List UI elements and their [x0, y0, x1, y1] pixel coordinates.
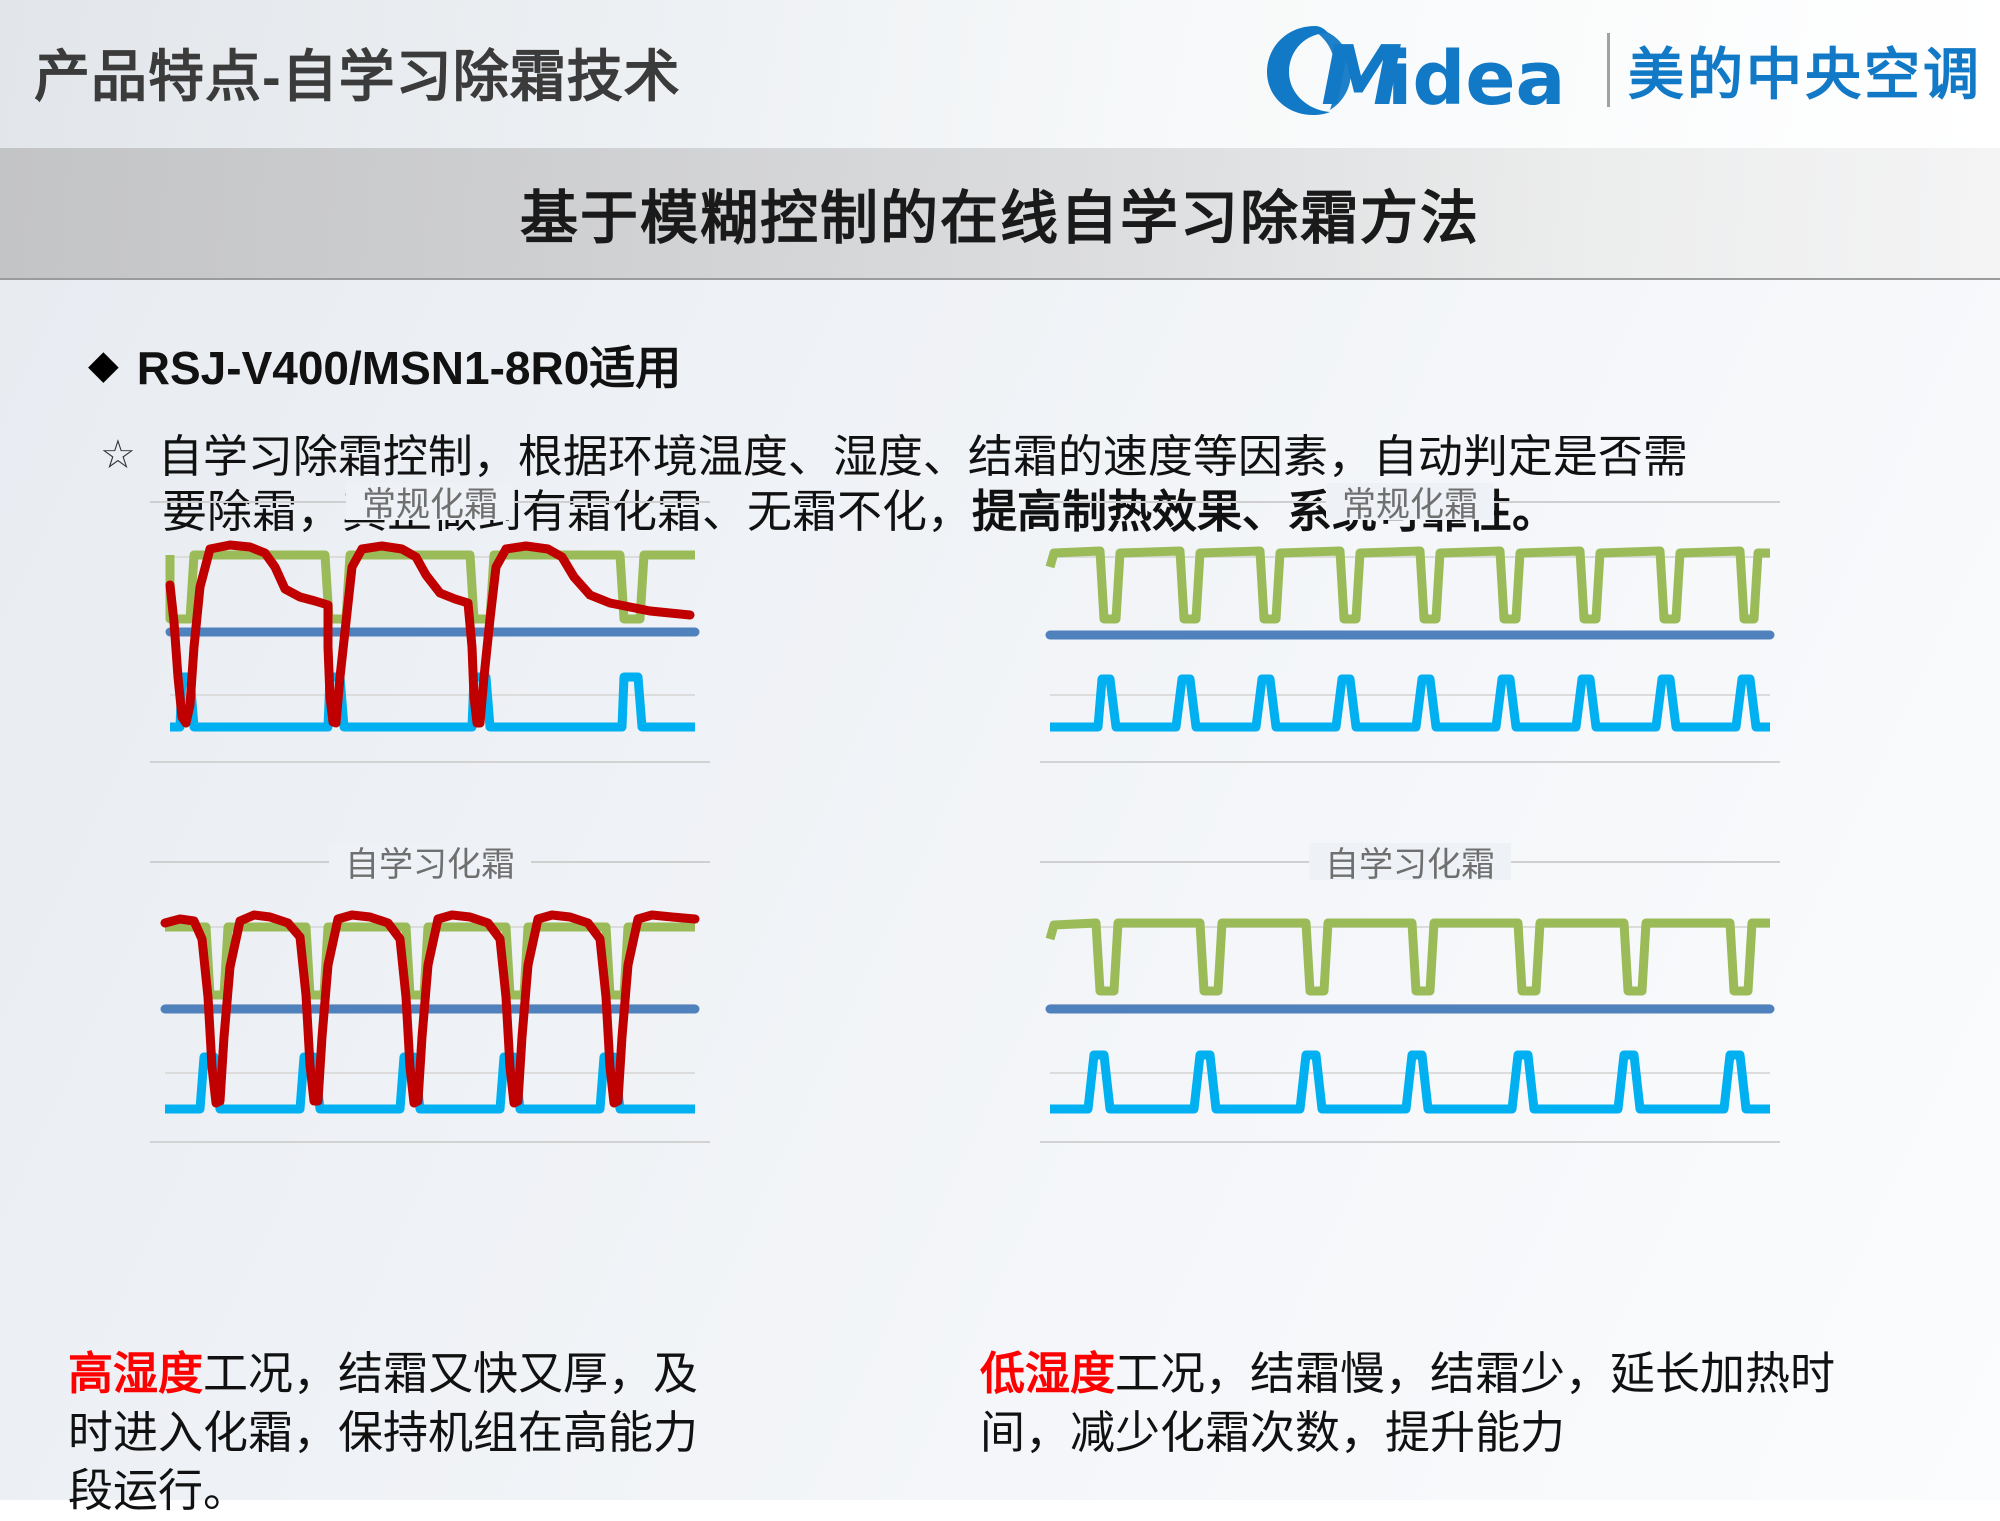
chart-bottom-right-plot: [1040, 887, 1780, 1137]
diamond-bullet-icon: ◆: [88, 345, 119, 385]
chart-top-left-plot: [150, 527, 710, 757]
chart-bottom-left-plot: [150, 887, 710, 1137]
chart-bottom-left-footrule: [150, 1141, 710, 1143]
chart-panel-bottom-right: 自学习化霜: [1040, 835, 1780, 1143]
caption-left: 高湿度工况，结霜又快又厚，及时进入化霜，保持机组在高能力段运行。: [68, 1345, 728, 1521]
chart-top-left-label: 常规化霜: [346, 477, 514, 526]
series-cyan: [1050, 679, 1770, 727]
chart-panel-top-left: 常规化霜: [150, 475, 710, 763]
section-banner: 基于模糊控制的在线自学习除霜方法: [0, 148, 2000, 280]
caption-right: 低湿度工况，结霜慢，结霜少，延长加热时间，减少化霜次数，提升能力: [980, 1345, 1840, 1462]
chart-top-right-header: 常规化霜: [1040, 475, 1780, 527]
chart-panel-bottom-left: 自学习化霜: [150, 835, 710, 1143]
chart-top-left-footrule: [150, 761, 710, 763]
svg-text:idea: idea: [1387, 36, 1565, 122]
chart-top-left-header: 常规化霜: [150, 475, 710, 527]
chart-top-right-plot: [1040, 527, 1780, 757]
chart-bottom-right-footrule: [1040, 1141, 1780, 1143]
caption-left-highlight: 高湿度: [68, 1348, 203, 1399]
series-cyan: [170, 677, 695, 727]
chart-bottom-right-label: 自学习化霜: [1309, 837, 1511, 886]
brand-chinese-name: 美的中央空调: [1628, 30, 1982, 111]
model-bullet-text: RSJ-V400/MSN1-8R0适用: [137, 332, 682, 398]
chart-top-right-footrule: [1040, 761, 1780, 763]
brand-logo: M idea 美的中央空调: [1259, 18, 1982, 122]
series-green: [1050, 551, 1770, 619]
banner-title: 基于模糊控制的在线自学习除霜方法: [520, 171, 1480, 255]
series-cyan: [1050, 1055, 1770, 1109]
slide-content: ◆ RSJ-V400/MSN1-8R0适用 ☆ 自学习除霜控制，根据环境温度、湿…: [0, 280, 2000, 1500]
page-header: 产品特点-自学习除霜技术 M idea 美的中央空调: [0, 0, 2000, 148]
chart-bottom-left-label: 自学习化霜: [329, 837, 531, 886]
chart-panel-top-right: 常规化霜: [1040, 475, 1780, 763]
midea-logo-icon: M idea: [1259, 18, 1589, 122]
chart-bottom-right-header: 自学习化霜: [1040, 835, 1780, 887]
model-bullet: ◆ RSJ-V400/MSN1-8R0适用: [88, 332, 681, 398]
caption-right-highlight: 低湿度: [980, 1348, 1115, 1399]
series-green: [1050, 923, 1770, 991]
chart-bottom-left-header: 自学习化霜: [150, 835, 710, 887]
chart-top-right-label: 常规化霜: [1326, 477, 1494, 526]
logo-divider: [1607, 33, 1610, 107]
page-title: 产品特点-自学习除霜技术: [34, 32, 681, 113]
